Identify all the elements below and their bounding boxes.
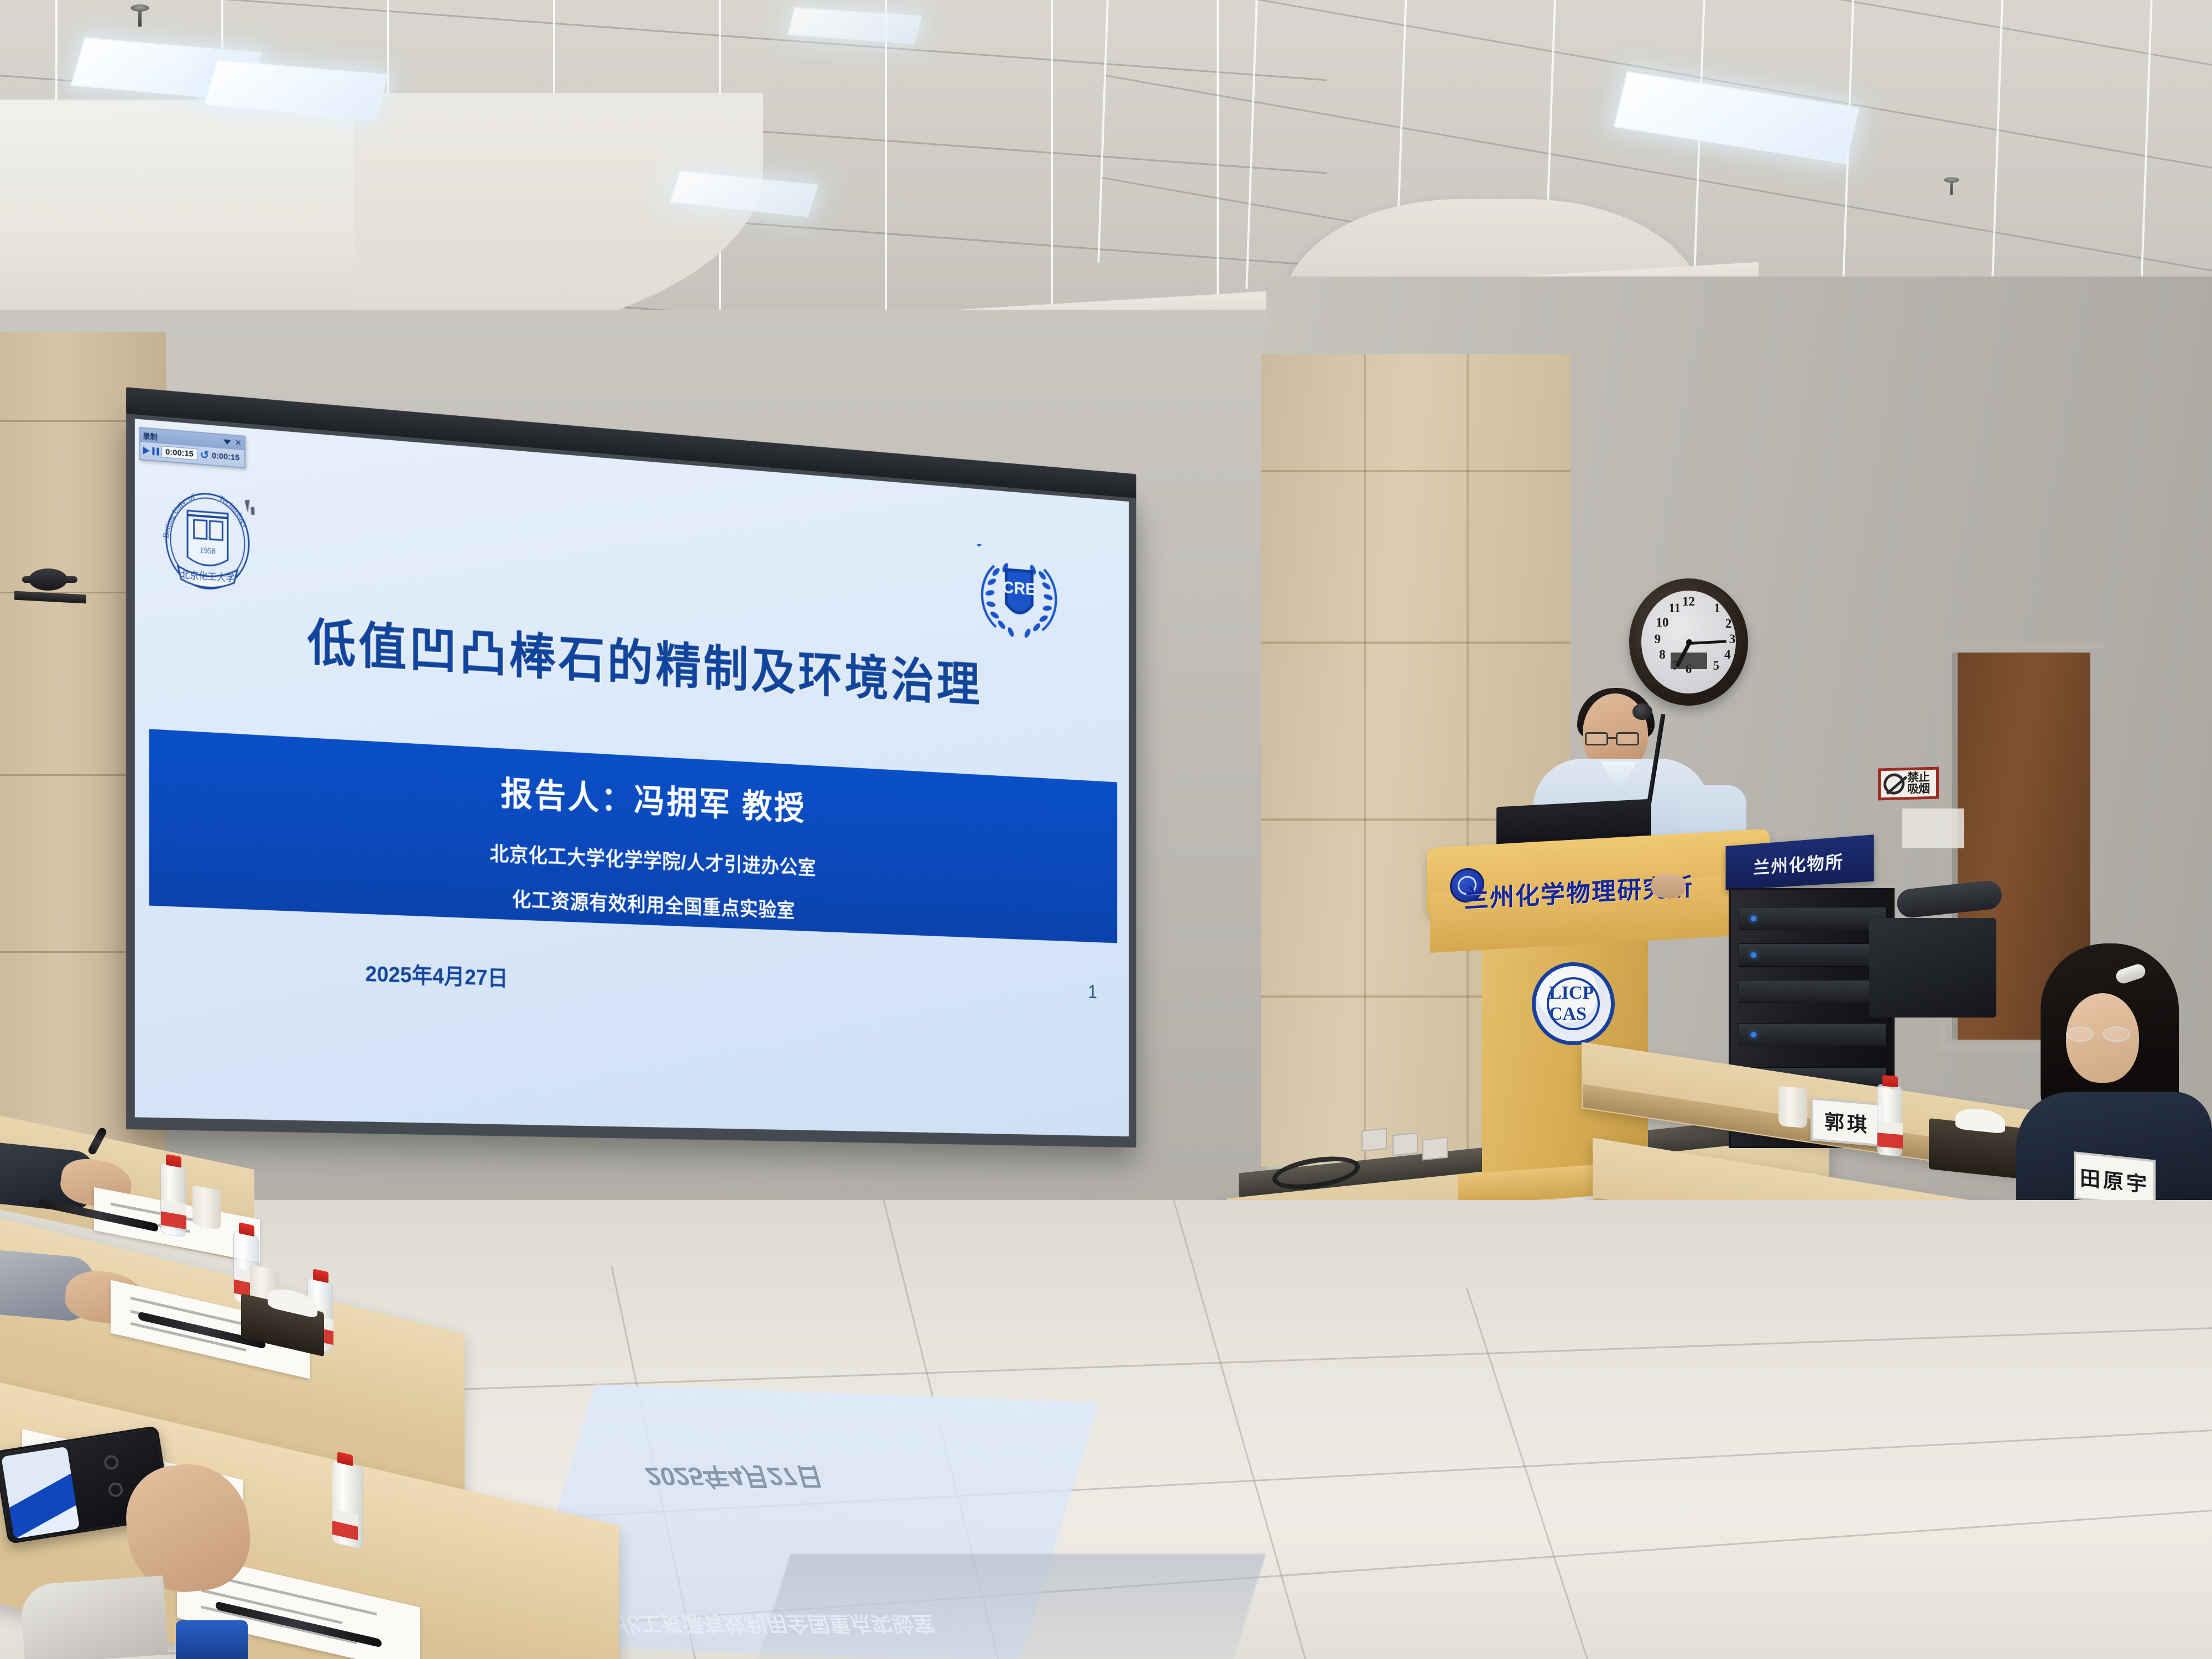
attendee-glasses — [2066, 1026, 2135, 1043]
paper-cup — [192, 1185, 221, 1230]
svg-text:1958: 1958 — [200, 546, 216, 556]
next-slide-icon[interactable] — [143, 446, 150, 455]
power-outlet[interactable] — [1392, 1133, 1418, 1156]
chevron-down-icon[interactable] — [223, 439, 231, 445]
clock-numeral: 3 — [1724, 633, 1740, 645]
attendee-sleeve — [19, 1575, 168, 1659]
wall-notice-paper — [1902, 808, 1964, 848]
no-smoking-sign: 禁止吸烟 — [1878, 767, 1939, 801]
clock-numeral: 10 — [1655, 616, 1670, 629]
presenter-hand — [1651, 874, 1686, 898]
floor-reflection-date: 2025年4月27日 — [642, 1460, 828, 1496]
clock-numeral: 9 — [1650, 633, 1665, 645]
clock-brand-mark — [1671, 653, 1707, 669]
power-outlet[interactable] — [1422, 1137, 1448, 1161]
clock-numeral: 1 — [1709, 602, 1725, 614]
repeat-icon[interactable]: ↺ — [200, 449, 209, 461]
microphone-icon — [1632, 703, 1652, 720]
recording-toolbar-title: 录制 — [143, 430, 158, 442]
nameplate-guo-qi: 郭琪 — [1811, 1097, 1884, 1147]
close-icon[interactable]: ✕ — [235, 439, 242, 447]
sprinkler-head-icon — [1944, 177, 1959, 196]
wall-clock: 12 1 2 3 4 5 6 7 8 9 10 11 — [1629, 578, 1748, 706]
cre-shield-logo: CRE — [977, 544, 1060, 646]
floor-reflection-org: 化工资源有效利用全国重点实验室 — [615, 1610, 939, 1641]
clock-numeral: 8 — [1655, 648, 1670, 661]
clock-numeral: 5 — [1708, 659, 1724, 672]
recording-elapsed-time: 0:00:15 — [161, 446, 197, 460]
slide-content: 1958 北京化工大学 Beijing Univ. of Technology — [135, 419, 1129, 1136]
power-outlet[interactable] — [1361, 1128, 1387, 1152]
recording-total-time: 0:00:15 — [212, 451, 239, 463]
wall-camera-icon — [20, 564, 81, 603]
water-bottle — [1877, 1084, 1902, 1157]
nameplate-tian-yuanyu: 田原宇 — [2074, 1151, 2156, 1208]
paper-cup — [1778, 1086, 1807, 1129]
institute-crest-text: LICP CAS — [1547, 977, 1600, 1030]
no-smoking-icon — [1884, 773, 1905, 795]
water-bottle — [332, 1460, 363, 1550]
institute-crest: LICP CAS — [1532, 962, 1615, 1045]
phone-screen[interactable] — [1, 1447, 80, 1539]
clock-numeral: 12 — [1681, 595, 1697, 608]
camera-lens-icon — [103, 1454, 119, 1471]
svg-text:CRE: CRE — [1003, 577, 1036, 599]
pause-icon[interactable] — [152, 447, 159, 455]
side-monitor[interactable] — [1869, 918, 1996, 1018]
conference-room-scene: 禁止吸烟 12 1 2 3 4 5 6 7 8 9 10 11 — [0, 0, 2212, 1659]
no-smoking-label: 禁止吸烟 — [1907, 771, 1933, 795]
slide-page-number: 1 — [1088, 982, 1097, 1003]
sprinkler-head-icon — [131, 4, 149, 28]
clock-numeral: 2 — [1721, 617, 1736, 630]
projection-screen: 录制 ✕ 0:00:15 ↺ 0:00:15 — [126, 410, 1136, 1147]
projected-slide-surface[interactable]: 录制 ✕ 0:00:15 ↺ 0:00:15 — [135, 419, 1129, 1136]
clock-minute-hand — [1688, 640, 1726, 645]
camera-lens-icon — [107, 1481, 124, 1498]
floor-reflection-band — [758, 1554, 1266, 1659]
presenter-glasses — [1585, 732, 1645, 747]
water-bottle — [160, 1162, 186, 1238]
clock-face: 12 1 2 3 4 5 6 7 8 9 10 11 — [1641, 591, 1736, 693]
clock-numeral: 11 — [1667, 602, 1682, 614]
blue-object-on-floor — [176, 1620, 248, 1659]
slide-date: 2025年4月27日 — [366, 956, 508, 992]
